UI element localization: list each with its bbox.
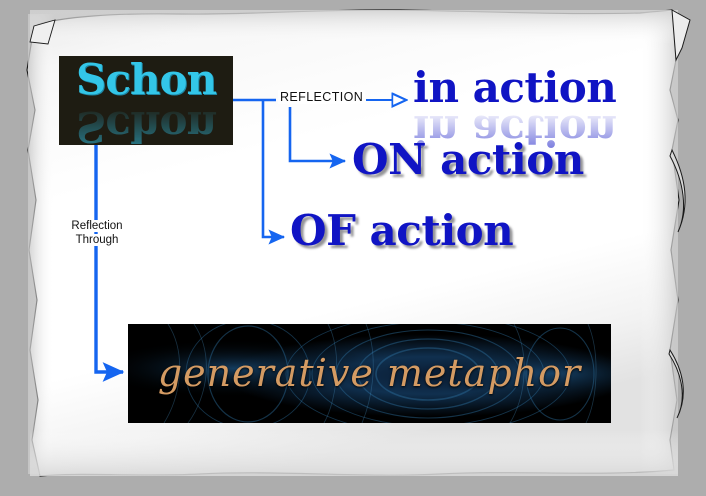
slide-canvas: Schon Schon in action in action ON actio… — [0, 0, 706, 496]
generative-metaphor-word: generative metaphor — [128, 350, 611, 396]
reflection-through-label: Reflection Through — [62, 220, 132, 247]
reflection-through-line1: Reflection — [70, 220, 123, 232]
connector-schon-to-metaphor — [96, 145, 123, 372]
reflection-through-line2: Through — [75, 234, 120, 246]
connector-to-of-action — [263, 100, 284, 237]
connector-to-on-action — [290, 107, 345, 161]
reflection-label: REFLECTION — [278, 90, 365, 104]
generative-metaphor-image-box: generative metaphor — [128, 324, 611, 423]
slide-content: Schon Schon in action in action ON actio… — [0, 0, 706, 496]
